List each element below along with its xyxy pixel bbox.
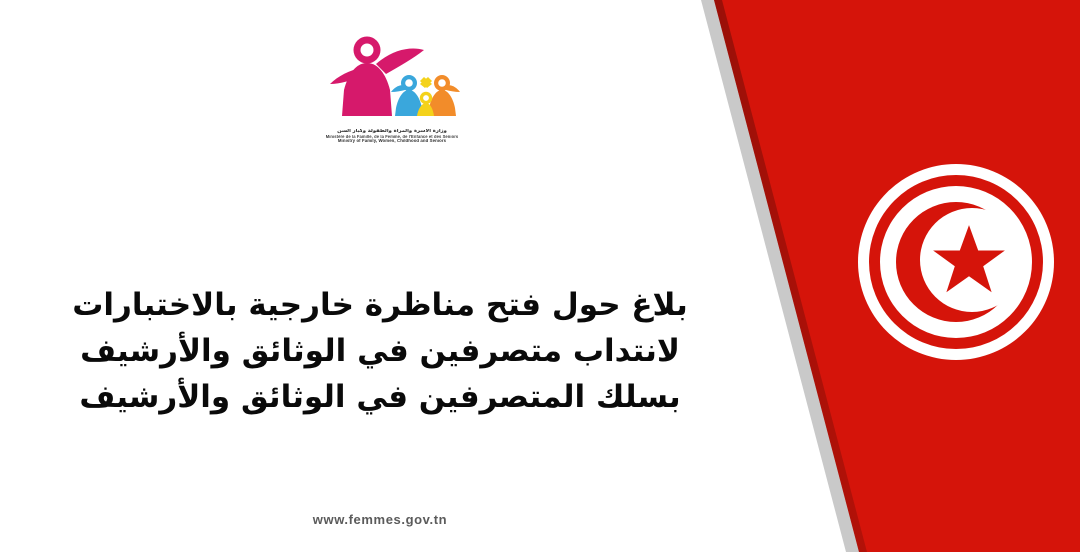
headline: بلاغ حول فتح مناظرة خارجية بالاختبارات ل…	[24, 283, 736, 421]
website-url[interactable]: www.femmes.gov.tn	[0, 512, 760, 527]
family-figures-icon	[316, 28, 468, 128]
flag-emblem	[858, 164, 1054, 360]
headline-line-2: لانتداب متصرفين في الوثائق والأرشيف	[24, 329, 736, 375]
star-icon	[930, 222, 1008, 300]
announcement-banner: وزارة الأسرة والمرأة والطفولة وكبار السن…	[0, 0, 1080, 552]
ministry-logo: وزارة الأسرة والمرأة والطفولة وكبار السن…	[312, 28, 472, 153]
headline-line-1: بلاغ حول فتح مناظرة خارجية بالاختبارات	[24, 283, 736, 329]
logo-caption-block: وزارة الأسرة والمرأة والطفولة وكبار السن…	[316, 129, 468, 144]
logo-caption-english: Ministry of Family, Women, Childhood and…	[316, 139, 468, 144]
headline-line-3: بسلك المتصرفين في الوثائق والأرشيف	[24, 375, 736, 421]
tunisian-flag-panel	[660, 0, 1080, 552]
